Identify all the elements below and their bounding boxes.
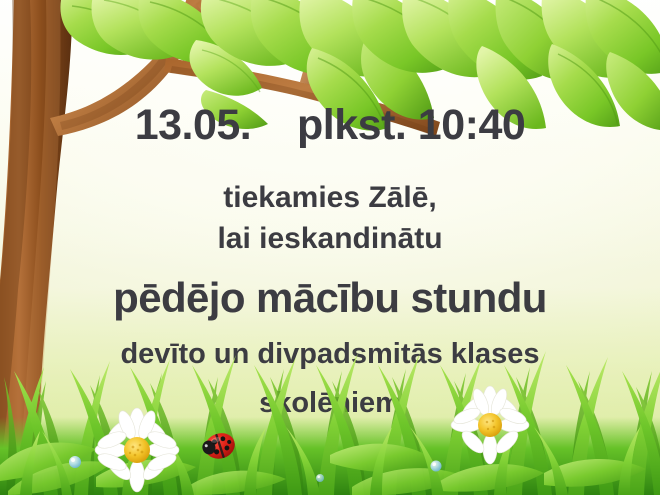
daisy-right [451, 386, 529, 464]
daisy-left [95, 408, 179, 492]
dewdrop-center [316, 474, 324, 482]
poster-canvas: 13.05. plkst. 10:40 tiekamies Zālē, lai … [0, 0, 660, 495]
ladybug [199, 429, 238, 463]
dewdrop-right [431, 461, 442, 472]
dewdrop-left [69, 456, 81, 468]
flora-fauna-details [0, 0, 660, 495]
